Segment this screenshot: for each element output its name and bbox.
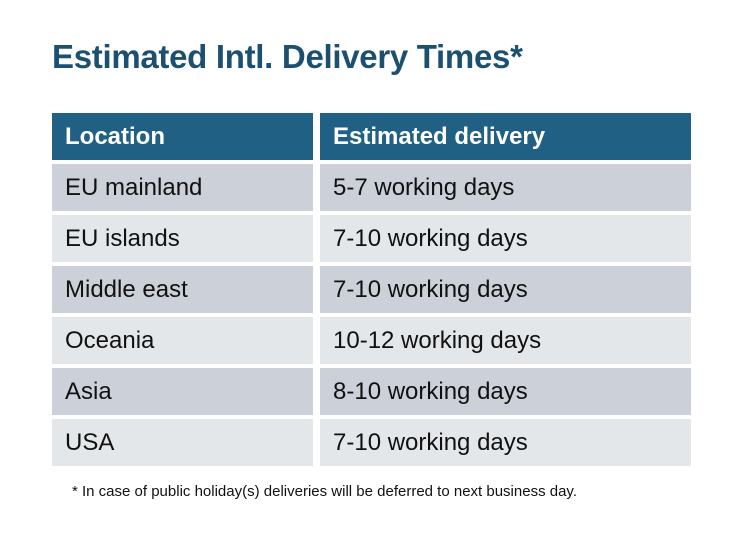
cell-estimated-delivery: 5-7 working days	[320, 164, 691, 211]
table-row: USA 7-10 working days	[52, 419, 691, 466]
cell-location: USA	[52, 419, 313, 466]
cell-location: Asia	[52, 368, 313, 415]
cell-location: EU islands	[52, 215, 313, 262]
cell-estimated-delivery: 10-12 working days	[320, 317, 691, 364]
cell-location: EU mainland	[52, 164, 313, 211]
footnote: * In case of public holiday(s) deliverie…	[72, 482, 692, 502]
table-row: Middle east 7-10 working days	[52, 266, 691, 313]
table-row: Asia 8-10 working days	[52, 368, 691, 415]
table-row: Oceania 10-12 working days	[52, 317, 691, 364]
cell-estimated-delivery: 7-10 working days	[320, 266, 691, 313]
column-header-location: Location	[52, 113, 313, 160]
table-header-row: Location Estimated delivery	[52, 113, 691, 160]
delivery-times-card: Estimated Intl. Delivery Times* Location…	[0, 0, 745, 536]
cell-location: Oceania	[52, 317, 313, 364]
page-title: Estimated Intl. Delivery Times*	[52, 36, 692, 78]
table-row: EU mainland 5-7 working days	[52, 164, 691, 211]
cell-estimated-delivery: 7-10 working days	[320, 215, 691, 262]
column-header-estimated-delivery: Estimated delivery	[320, 113, 691, 160]
delivery-times-table: Location Estimated delivery EU mainland …	[52, 113, 691, 466]
cell-estimated-delivery: 7-10 working days	[320, 419, 691, 466]
table-row: EU islands 7-10 working days	[52, 215, 691, 262]
cell-location: Middle east	[52, 266, 313, 313]
cell-estimated-delivery: 8-10 working days	[320, 368, 691, 415]
